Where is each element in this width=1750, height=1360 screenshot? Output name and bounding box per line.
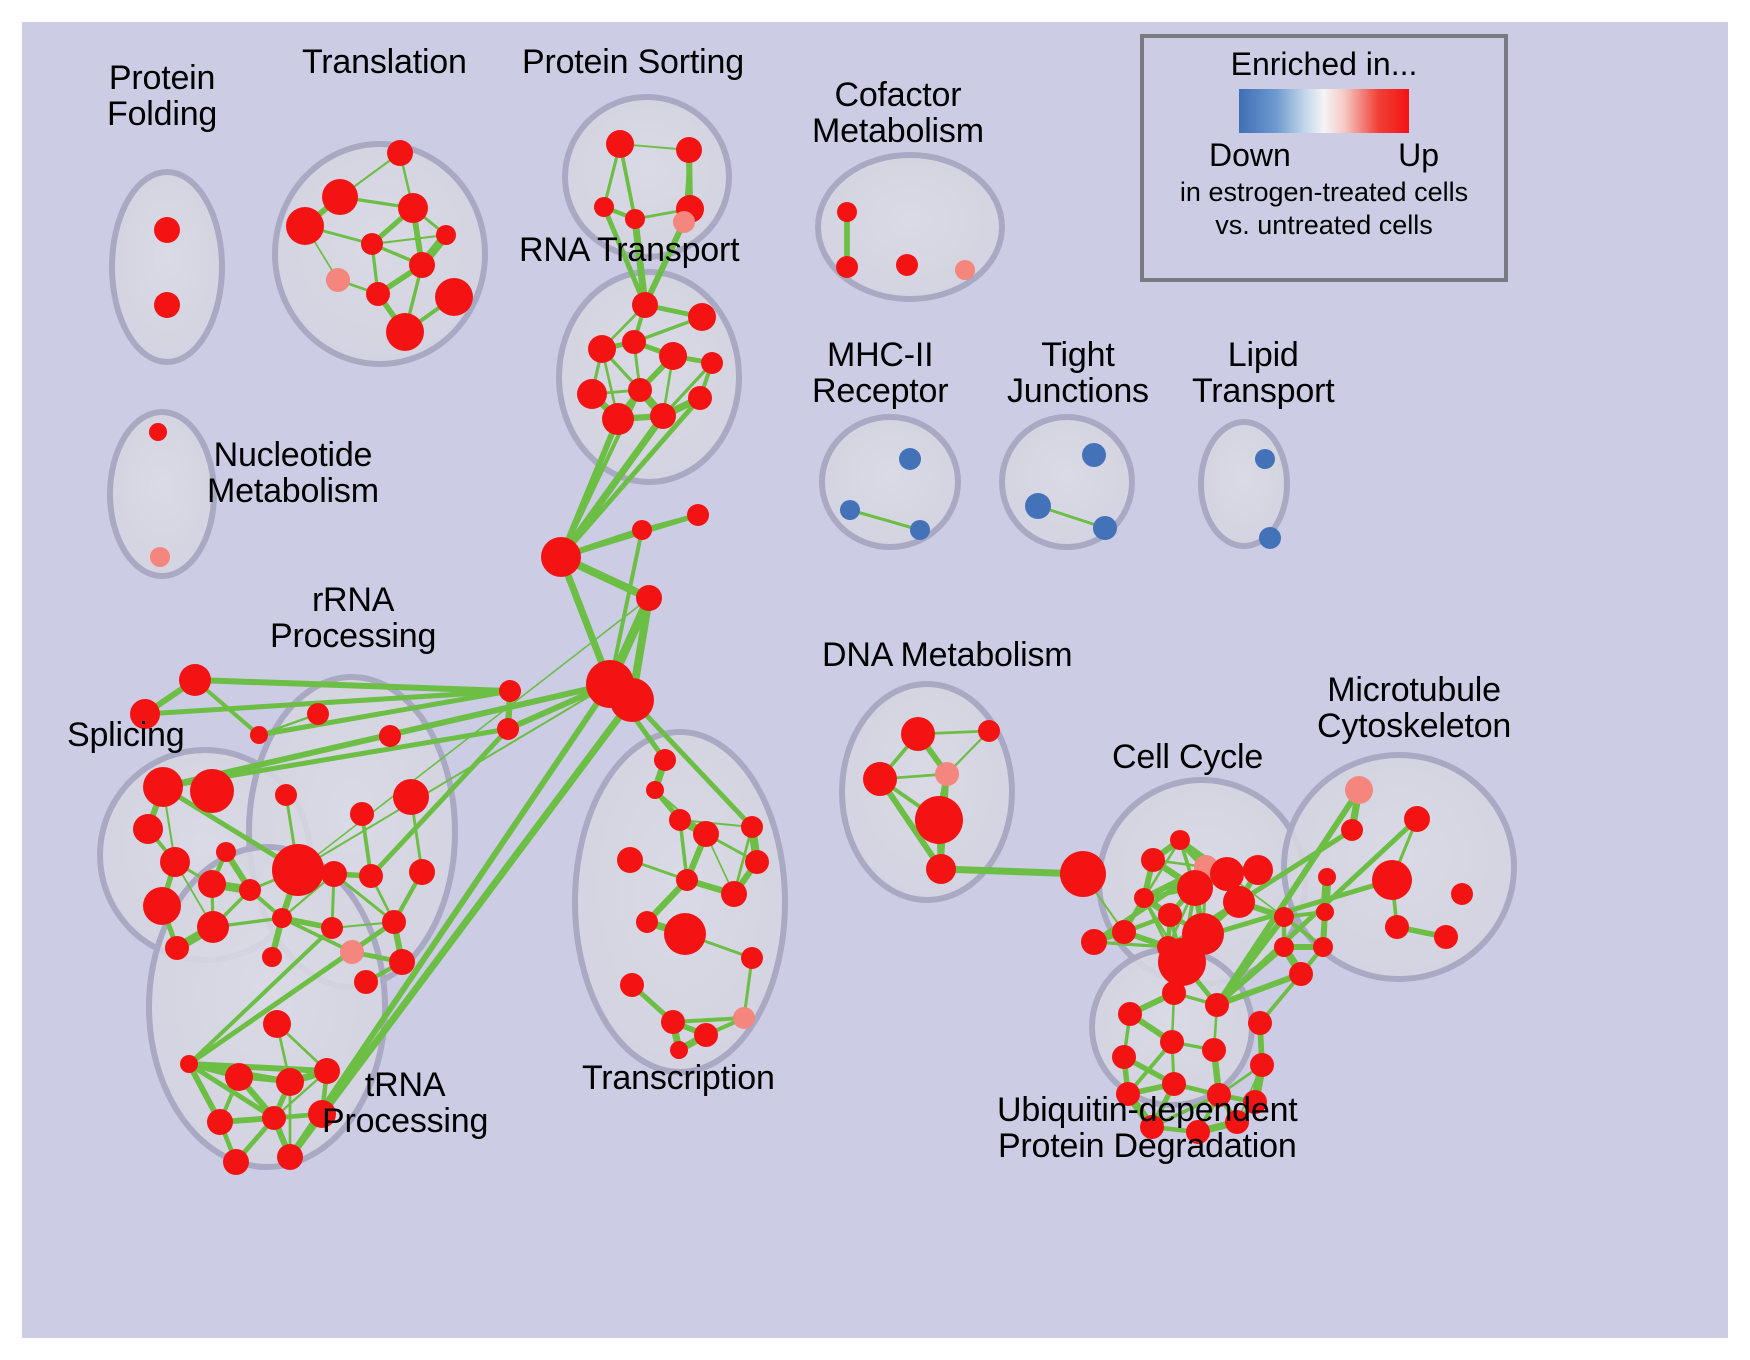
network-node[interactable] — [1158, 938, 1206, 986]
network-node[interactable] — [326, 268, 350, 292]
network-node[interactable] — [1202, 1038, 1226, 1062]
network-node[interactable] — [207, 1109, 233, 1135]
network-node[interactable] — [398, 193, 428, 223]
network-node[interactable] — [688, 386, 712, 410]
network-node[interactable] — [160, 847, 190, 877]
network-node[interactable] — [1160, 1030, 1184, 1054]
network-node[interactable] — [1060, 851, 1106, 897]
network-node[interactable] — [606, 130, 634, 158]
cluster-mhc-ii-receptor — [822, 417, 958, 547]
network-node[interactable] — [154, 217, 180, 243]
network-node[interactable] — [143, 887, 181, 925]
network-node[interactable] — [688, 303, 716, 331]
network-canvas: Protein FoldingTranslationProtein Sortin… — [22, 22, 1728, 1338]
network-node[interactable] — [216, 842, 236, 862]
legend-title: Enriched in... — [1231, 46, 1418, 83]
network-node[interactable] — [1250, 1053, 1274, 1077]
network-node[interactable] — [541, 537, 581, 577]
network-node[interactable] — [1289, 962, 1313, 986]
color-gradient-bar — [1239, 89, 1409, 133]
network-node[interactable] — [1341, 819, 1363, 841]
network-node[interactable] — [622, 330, 646, 354]
network-node[interactable] — [901, 717, 935, 751]
network-node[interactable] — [1225, 1110, 1249, 1134]
network-node[interactable] — [721, 881, 747, 907]
network-node[interactable] — [1141, 848, 1165, 872]
network-node[interactable] — [617, 847, 643, 873]
network-node[interactable] — [1162, 1072, 1186, 1096]
network-node[interactable] — [321, 861, 347, 887]
network-node[interactable] — [1210, 857, 1244, 891]
network-node[interactable] — [499, 680, 521, 702]
network-node[interactable] — [130, 699, 160, 729]
network-node[interactable] — [636, 585, 662, 611]
network-node[interactable] — [180, 1055, 198, 1073]
network-node[interactable] — [359, 864, 383, 888]
network-node[interactable] — [197, 911, 229, 943]
network-node[interactable] — [745, 850, 769, 874]
network-node[interactable] — [263, 1010, 291, 1038]
network-node[interactable] — [1316, 903, 1334, 921]
network-node[interactable] — [978, 720, 1000, 742]
network-node[interactable] — [899, 448, 921, 470]
network-node[interactable] — [223, 1149, 249, 1175]
network-node[interactable] — [1313, 937, 1333, 957]
network-node[interactable] — [435, 278, 473, 316]
network-node[interactable] — [350, 802, 374, 826]
network-node[interactable] — [1162, 981, 1186, 1005]
network-node[interactable] — [1243, 855, 1273, 885]
network-node[interactable] — [1385, 915, 1409, 939]
network-node[interactable] — [955, 260, 975, 280]
network-node[interactable] — [149, 423, 167, 441]
cluster-translation — [275, 144, 485, 364]
network-node[interactable] — [143, 767, 183, 807]
network-node[interactable] — [387, 140, 413, 166]
network-node[interactable] — [840, 500, 860, 520]
network-node[interactable] — [409, 859, 435, 885]
legend-direction-row: Down Up — [1209, 137, 1439, 174]
network-node[interactable] — [693, 821, 719, 847]
network-node[interactable] — [659, 342, 687, 370]
network-node[interactable] — [602, 403, 634, 435]
network-node[interactable] — [837, 202, 857, 222]
network-node[interactable] — [673, 211, 695, 233]
network-node[interactable] — [436, 225, 456, 245]
network-node[interactable] — [610, 678, 654, 722]
network-node[interactable] — [896, 254, 918, 276]
network-node[interactable] — [676, 869, 698, 891]
network-node[interactable] — [366, 282, 390, 306]
network-node[interactable] — [262, 947, 282, 967]
network-node[interactable] — [1158, 903, 1182, 927]
network-node[interactable] — [1118, 1002, 1142, 1026]
network-node[interactable] — [669, 809, 691, 831]
network-node[interactable] — [577, 379, 607, 409]
network-node[interactable] — [150, 547, 170, 567]
network-node[interactable] — [1434, 925, 1458, 949]
network-node[interactable] — [733, 1007, 755, 1029]
network-node[interactable] — [272, 908, 292, 928]
network-node[interactable] — [393, 779, 429, 815]
network-node[interactable] — [190, 769, 234, 813]
network-node[interactable] — [1112, 1045, 1136, 1069]
network-node[interactable] — [154, 292, 180, 318]
enrichment-map-figure: Protein FoldingTranslationProtein Sortin… — [0, 0, 1750, 1360]
network-node[interactable] — [1093, 516, 1117, 540]
cluster-lipid-transport — [1201, 422, 1287, 546]
network-node[interactable] — [286, 207, 324, 245]
network-node[interactable] — [664, 913, 706, 955]
network-node[interactable] — [307, 703, 329, 725]
network-node[interactable] — [272, 844, 324, 896]
legend-up-label: Up — [1398, 137, 1439, 174]
network-node[interactable] — [277, 1144, 303, 1170]
network-node[interactable] — [1081, 929, 1107, 955]
network-node[interactable] — [262, 1106, 286, 1130]
network-node[interactable] — [935, 762, 959, 786]
network-node[interactable] — [308, 1100, 336, 1128]
network-node[interactable] — [386, 313, 424, 351]
network-node[interactable] — [1255, 449, 1275, 469]
network-node[interactable] — [497, 718, 519, 740]
network-node[interactable] — [628, 378, 652, 402]
network-node[interactable] — [741, 947, 763, 969]
network-node[interactable] — [1082, 443, 1106, 467]
network-node[interactable] — [594, 197, 614, 217]
legend-down-label: Down — [1209, 137, 1291, 174]
network-node[interactable] — [1274, 937, 1294, 957]
network-node[interactable] — [1025, 493, 1051, 519]
network-node[interactable] — [915, 796, 963, 844]
network-node[interactable] — [409, 252, 435, 278]
network-node[interactable] — [382, 910, 406, 934]
network-node[interactable] — [179, 664, 211, 696]
network-node[interactable] — [670, 1041, 688, 1059]
network-node[interactable] — [1223, 886, 1255, 918]
network-node[interactable] — [165, 936, 189, 960]
legend-box: Enriched in... Down Up in estrogen-treat… — [1140, 34, 1508, 282]
network-node[interactable] — [661, 1010, 685, 1034]
network-node[interactable] — [694, 1023, 718, 1047]
network-node[interactable] — [1207, 1083, 1231, 1107]
network-node[interactable] — [250, 726, 268, 744]
network-node[interactable] — [1248, 1011, 1272, 1035]
network-node[interactable] — [701, 352, 723, 374]
network-node[interactable] — [1177, 870, 1213, 906]
network-node[interactable] — [741, 816, 763, 838]
network-node[interactable] — [632, 292, 658, 318]
network-node[interactable] — [1451, 883, 1473, 905]
network-node[interactable] — [687, 504, 709, 526]
legend-caption-line1: in estrogen-treated cells — [1180, 177, 1468, 207]
network-node[interactable] — [1112, 920, 1136, 944]
network-node[interactable] — [654, 749, 676, 771]
network-node[interactable] — [321, 917, 343, 939]
cluster-protein-sorting — [565, 97, 729, 257]
network-node[interactable] — [1274, 907, 1294, 927]
network-node[interactable] — [1116, 1082, 1140, 1106]
network-node[interactable] — [1170, 830, 1190, 850]
network-node[interactable] — [632, 520, 652, 540]
network-node[interactable] — [1140, 1115, 1164, 1139]
network-node[interactable] — [1243, 1090, 1267, 1114]
network-node[interactable] — [389, 949, 415, 975]
network-node[interactable] — [836, 256, 858, 278]
network-node[interactable] — [340, 940, 364, 964]
cluster-protein-folding — [112, 172, 222, 362]
network-node[interactable] — [354, 970, 378, 994]
network-node[interactable] — [1259, 527, 1281, 549]
legend-caption-line2: vs. untreated cells — [1215, 210, 1433, 240]
network-node[interactable] — [863, 762, 897, 796]
network-node[interactable] — [910, 520, 930, 540]
network-node[interactable] — [1404, 806, 1430, 832]
network-node[interactable] — [225, 1063, 253, 1091]
network-node[interactable] — [588, 335, 616, 363]
network-node[interactable] — [676, 137, 702, 163]
network-node[interactable] — [1318, 868, 1336, 886]
network-node[interactable] — [926, 854, 956, 884]
network-node[interactable] — [198, 870, 226, 898]
network-node[interactable] — [276, 1068, 304, 1096]
network-node[interactable] — [361, 233, 383, 255]
network-node[interactable] — [1345, 776, 1373, 804]
network-node[interactable] — [625, 209, 645, 229]
network-node[interactable] — [275, 784, 297, 806]
network-node[interactable] — [1372, 860, 1412, 900]
network-node[interactable] — [636, 911, 658, 933]
network-node[interactable] — [322, 179, 358, 215]
network-node[interactable] — [133, 814, 163, 844]
network-node[interactable] — [379, 725, 401, 747]
network-node[interactable] — [1186, 1120, 1210, 1144]
network-node[interactable] — [1134, 888, 1154, 908]
network-node[interactable] — [620, 973, 644, 997]
network-node[interactable] — [646, 781, 664, 799]
network-node[interactable] — [314, 1058, 340, 1084]
network-node[interactable] — [239, 879, 261, 901]
network-node[interactable] — [1205, 993, 1229, 1017]
network-node[interactable] — [650, 403, 676, 429]
